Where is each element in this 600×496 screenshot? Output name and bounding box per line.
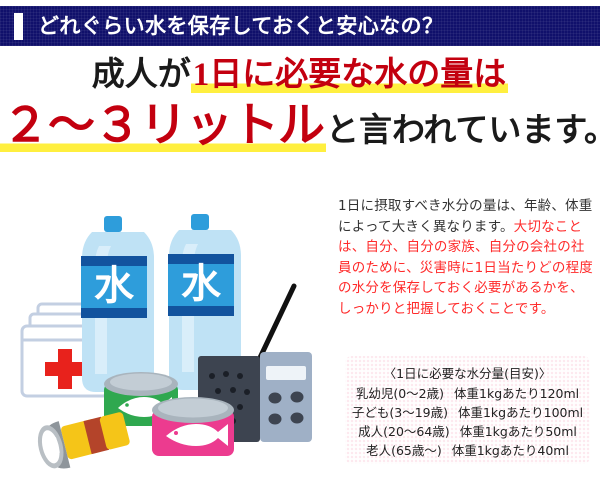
headline-block: 成人が1日に必要な水の量は ２〜３リットルと言われています。	[0, 56, 600, 156]
note-row-amount: 体重1kgあたり50ml	[460, 424, 577, 439]
page-title: どれぐらい水を保存しておくと安心なの？	[38, 16, 443, 37]
note-row: 乳幼児(0〜2歳)体重1kgあたり120ml	[351, 384, 584, 403]
headline-line-2: ２〜３リットルと言われています。	[0, 97, 600, 156]
emergency-supplies-illustration: 水 水	[4, 186, 334, 486]
note-rows: 乳幼児(0〜2歳)体重1kgあたり120ml 子ども(3〜19歳)体重1kgあた…	[351, 384, 584, 460]
canned-fish-pink-icon	[152, 397, 234, 456]
body-paragraph: 1日に摂取すべき水分の量は、年齢、体重によって大きく異なります。大切なことは、自…	[338, 196, 596, 319]
headline-line-1: 成人が1日に必要な水の量は	[0, 56, 600, 95]
note-row-amount: 体重1kgあたり40ml	[452, 443, 569, 458]
header-accent-bar	[14, 13, 23, 40]
water-requirement-note-box: 〈1日に必要な水分量(目安)〉 乳幼児(0〜2歳)体重1kgあたり120ml 子…	[345, 356, 590, 464]
note-row: 老人(65歳〜)体重1kgあたり40ml	[351, 441, 584, 460]
note-row-group: 老人(65歳〜)	[366, 443, 442, 458]
headline-suffix: と言われています。	[326, 113, 600, 149]
note-row-group: 子ども(3〜19歳)	[352, 405, 448, 420]
header-bar: どれぐらい水を保存しておくと安心なの？	[0, 6, 600, 46]
bottle-label-left: 水	[94, 263, 135, 309]
bottle-label-right: 水	[181, 261, 222, 307]
note-row-group: 乳幼児(0〜2歳)	[356, 386, 444, 401]
illustration-svg: 水 水	[4, 186, 334, 486]
body-text-column: 1日に摂取すべき水分の量は、年齢、体重によって大きく異なります。大切なことは、自…	[338, 196, 596, 319]
note-row-amount: 体重1kgあたり120ml	[454, 386, 579, 401]
note-row-amount: 体重1kgあたり100ml	[458, 405, 583, 420]
note-row: 成人(20〜64歳)体重1kgあたり50ml	[351, 422, 584, 441]
note-row-group: 成人(20〜64歳)	[358, 424, 450, 439]
note-row: 子ども(3〜19歳)体重1kgあたり100ml	[351, 403, 584, 422]
headline-prefix: 成人が	[92, 57, 191, 93]
water-bottle-left-icon: 水	[81, 216, 154, 392]
headline-highlight-2: ２〜３リットル	[0, 100, 326, 152]
flashlight-icon	[34, 406, 133, 474]
headline-highlight-1: 1日に必要な水の量は	[191, 57, 509, 93]
note-title: 〈1日に必要な水分量(目安)〉	[351, 365, 584, 384]
